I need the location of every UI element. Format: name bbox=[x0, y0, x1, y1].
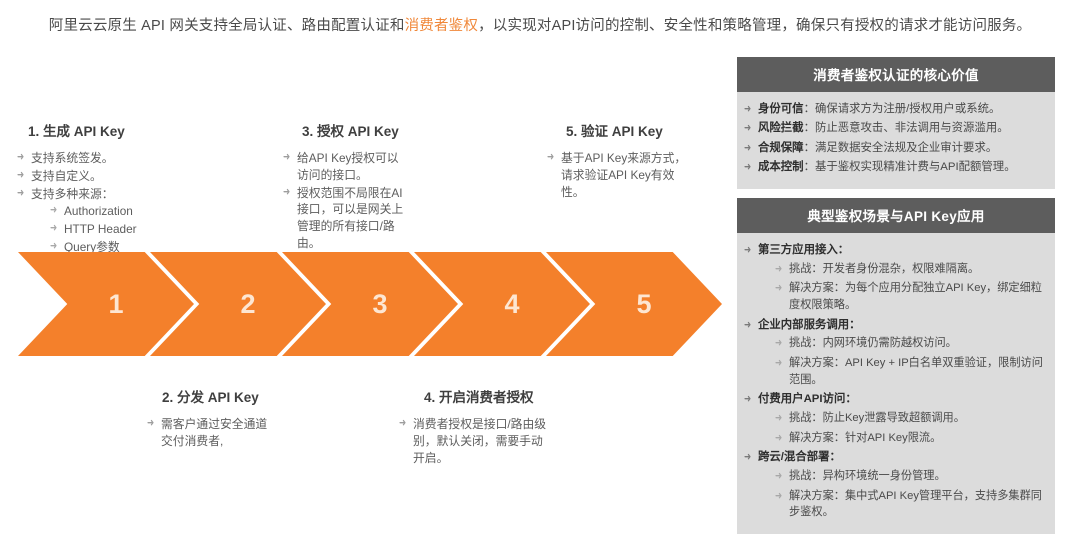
step-5-title: 5. 验证 API Key bbox=[566, 120, 663, 140]
list-item: 解决方案：集中式API Key管理平台，支持多集群同步鉴权。 bbox=[774, 488, 1045, 521]
panel-scenarios-body: 第三方应用接入： 挑战：开发者身份混杂，权限难隔离。 解决方案：为每个应用分配独… bbox=[737, 233, 1055, 534]
step-1-body: 支持系统签发。 支持自定义。 支持多种来源： Authorization HTT… bbox=[16, 150, 191, 257]
list-item: 支持多种来源： Authorization HTTP Header Query参… bbox=[16, 186, 191, 256]
step-1-title: 1. 生成 API Key bbox=[28, 120, 125, 140]
step-5-body: 基于API Key来源方式，请求验证API Key有效性。 bbox=[546, 150, 696, 201]
list-item: 支持自定义。 bbox=[16, 168, 191, 185]
bullet-text: 授权范围不局限在AI接口，可以是网关上管理的所有接口/路由。 bbox=[297, 186, 403, 250]
bullet-text: 支持多种来源： bbox=[31, 187, 114, 201]
chevron-band: 1 2 3 4 5 bbox=[0, 252, 730, 356]
bullet-text: 解决方案：API Key + IP白名单双重验证，限制访问范围。 bbox=[789, 357, 1043, 386]
list-item: 跨云/混合部署： 挑战：异构环境统一身份管理。 解决方案：集中式API Key管… bbox=[743, 449, 1045, 521]
bullet-text: 支持自定义。 bbox=[31, 169, 102, 183]
list-item: 解决方案：针对API Key限流。 bbox=[774, 430, 1045, 447]
list-item: 消费者授权是接口/路由级别，默认关闭，需要手动开启。 bbox=[398, 416, 548, 466]
bullet-text: 解决方案：针对API Key限流。 bbox=[789, 432, 941, 444]
list-item: 解决方案：API Key + IP白名单双重验证，限制访问范围。 bbox=[774, 355, 1045, 388]
list-item: 身份可信：确保请求方为注册/授权用户或系统。 bbox=[743, 101, 1045, 118]
panel-core-value-title: 消费者鉴权认证的核心价值 bbox=[737, 57, 1055, 92]
list-item: 挑战：异构环境统一身份管理。 bbox=[774, 468, 1045, 485]
item-value: ：满足数据安全法规及企业审计要求。 bbox=[804, 142, 998, 154]
group-suffix: ： bbox=[845, 393, 856, 405]
list-item: 付费用户API访问： 挑战：防止Key泄露导致超额调用。 解决方案：针对API … bbox=[743, 391, 1045, 446]
bullet-text: 解决方案：为每个应用分配独立API Key，绑定细粒度权限策略。 bbox=[789, 282, 1042, 311]
bullet-text: 挑战：开发者身份混杂，权限难隔离。 bbox=[789, 263, 979, 275]
step-3-title: 3. 授权 API Key bbox=[302, 120, 399, 140]
list-item: 挑战：防止Key泄露导致超额调用。 bbox=[774, 410, 1045, 427]
bullet-text: HTTP Header bbox=[64, 222, 137, 236]
bullet-text: 挑战：异构环境统一身份管理。 bbox=[789, 470, 946, 482]
list-item: 企业内部服务调用： 挑战：内网环境仍需防越权访问。 解决方案：API Key +… bbox=[743, 317, 1045, 389]
item-key: 合规保障 bbox=[758, 142, 804, 154]
list-item: 合规保障：满足数据安全法规及企业审计要求。 bbox=[743, 140, 1045, 157]
group-suffix: ： bbox=[830, 451, 841, 463]
list-item: 第三方应用接入： 挑战：开发者身份混杂，权限难隔离。 解决方案：为每个应用分配独… bbox=[743, 242, 1045, 314]
chevron-number: 5 bbox=[636, 289, 651, 320]
group-key: 企业内部服务调用 bbox=[758, 319, 849, 331]
item-value: ：基于鉴权实现精准计费与API配额管理。 bbox=[804, 161, 1016, 173]
step-2-body: 需客户通过安全通道交付消费者, bbox=[146, 416, 278, 451]
list-item: 支持系统签发。 bbox=[16, 150, 191, 167]
panel-scenarios-title: 典型鉴权场景与API Key应用 bbox=[737, 198, 1055, 233]
list-item: 风险拦截：防止恶意攻击、非法调用与资源滥用。 bbox=[743, 120, 1045, 137]
panel-core-value-body: 身份可信：确保请求方为注册/授权用户或系统。 风险拦截：防止恶意攻击、非法调用与… bbox=[737, 92, 1055, 189]
panel-core-value: 消费者鉴权认证的核心价值 身份可信：确保请求方为注册/授权用户或系统。 风险拦截… bbox=[737, 57, 1055, 189]
bullet-text: 挑战：防止Key泄露导致超额调用。 bbox=[789, 412, 965, 424]
bullet-text: 解决方案：集中式API Key管理平台，支持多集群同步鉴权。 bbox=[789, 490, 1042, 519]
item-key: 成本控制 bbox=[758, 161, 804, 173]
group-suffix: ： bbox=[838, 244, 849, 256]
bullet-text: 需客户通过安全通道交付消费者, bbox=[161, 417, 267, 448]
chevron-number: 1 bbox=[108, 289, 123, 320]
step-4-title: 4. 开启消费者授权 bbox=[424, 386, 534, 406]
item-key: 身份可信 bbox=[758, 103, 804, 115]
bullet-text: 挑战：内网环境仍需防越权访问。 bbox=[789, 337, 957, 349]
process-flow: 1. 生成 API Key 支持系统签发。 支持自定义。 支持多种来源： Aut… bbox=[0, 0, 730, 557]
list-item: 挑战：开发者身份混杂，权限难隔离。 bbox=[774, 261, 1045, 278]
bullet-text: 给API Key授权可以访问的接口。 bbox=[297, 151, 399, 182]
chevron-number: 2 bbox=[240, 289, 255, 320]
item-value: ：确保请求方为注册/授权用户或系统。 bbox=[804, 103, 1001, 115]
group-suffix: ： bbox=[849, 319, 860, 331]
chevron-number: 4 bbox=[504, 289, 519, 320]
list-item: 需客户通过安全通道交付消费者, bbox=[146, 416, 278, 450]
list-item: 解决方案：为每个应用分配独立API Key，绑定细粒度权限策略。 bbox=[774, 280, 1045, 313]
list-item: HTTP Header bbox=[49, 221, 191, 238]
bullet-text: 基于API Key来源方式，请求验证API Key有效性。 bbox=[561, 151, 686, 199]
group-key: 付费用户API访问 bbox=[758, 393, 845, 405]
chevron-number: 3 bbox=[372, 289, 387, 320]
step-3-body: 给API Key授权可以访问的接口。 授权范围不局限在AI接口，可以是网关上管理… bbox=[282, 150, 410, 253]
step-4-body: 消费者授权是接口/路由级别，默认关闭，需要手动开启。 bbox=[398, 416, 548, 467]
list-item: 授权范围不局限在AI接口，可以是网关上管理的所有接口/路由。 bbox=[282, 185, 410, 252]
group-key: 第三方应用接入 bbox=[758, 244, 838, 256]
list-item: 成本控制：基于鉴权实现精准计费与API配额管理。 bbox=[743, 159, 1045, 176]
item-key: 风险拦截 bbox=[758, 122, 804, 134]
panel-scenarios: 典型鉴权场景与API Key应用 第三方应用接入： 挑战：开发者身份混杂，权限难… bbox=[737, 198, 1055, 534]
step-2-title: 2. 分发 API Key bbox=[162, 386, 259, 406]
bullet-text: 支持系统签发。 bbox=[31, 151, 114, 165]
list-item: Authorization bbox=[49, 203, 191, 220]
list-item: 基于API Key来源方式，请求验证API Key有效性。 bbox=[546, 150, 696, 200]
bullet-text: Authorization bbox=[64, 204, 133, 218]
item-value: ：防止恶意攻击、非法调用与资源滥用。 bbox=[804, 122, 1009, 134]
slide-canvas: 阿里云云原生 API 网关支持全局认证、路由配置认证和消费者鉴权，以实现对API… bbox=[0, 0, 1080, 557]
list-item: 挑战：内网环境仍需防越权访问。 bbox=[774, 335, 1045, 352]
group-key: 跨云/混合部署 bbox=[758, 451, 830, 463]
list-item: 给API Key授权可以访问的接口。 bbox=[282, 150, 410, 184]
bullet-text: 消费者授权是接口/路由级别，默认关闭，需要手动开启。 bbox=[413, 417, 546, 465]
